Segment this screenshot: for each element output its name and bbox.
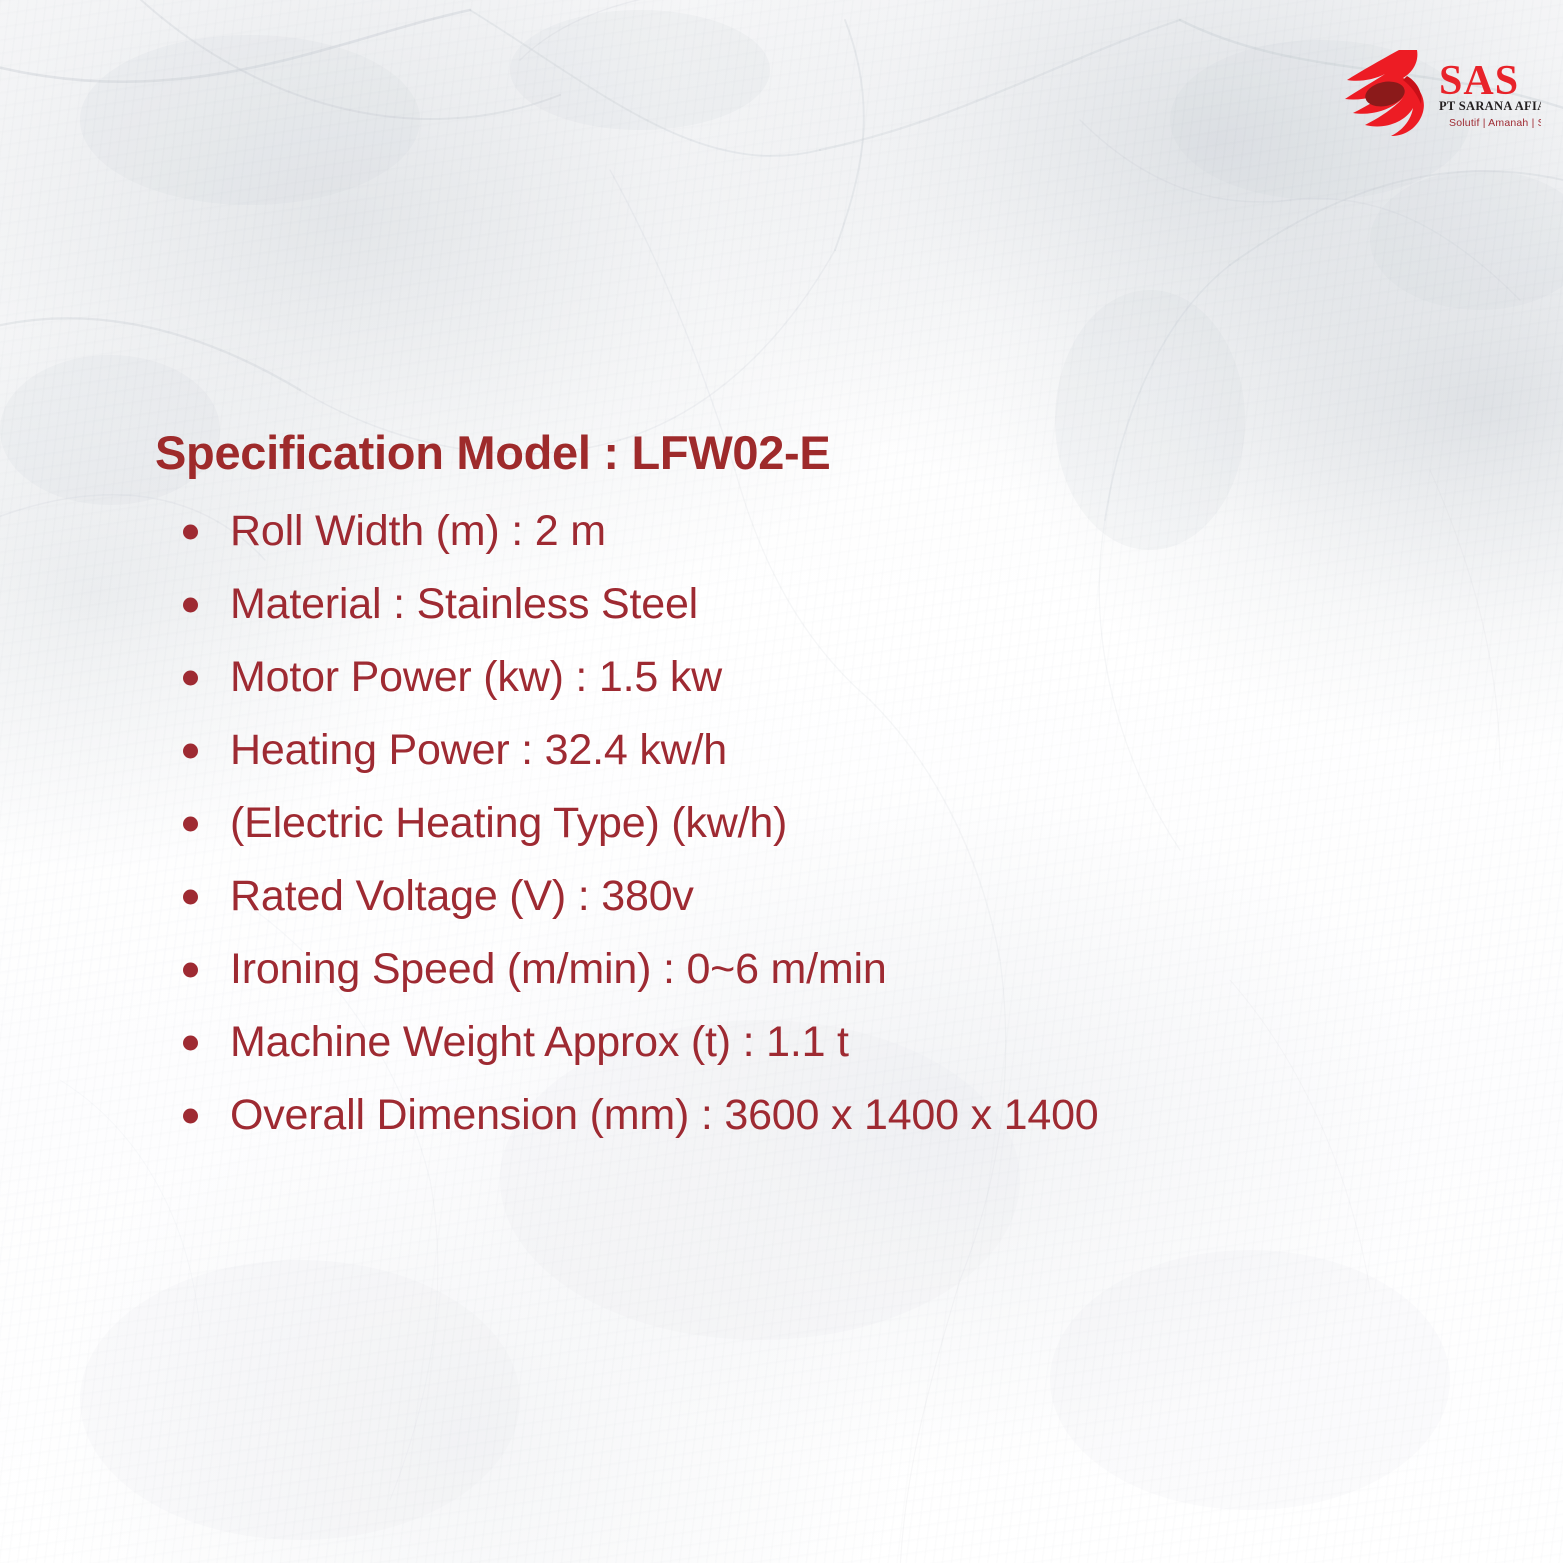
- bullet-dot-icon: [183, 816, 198, 831]
- list-item: Heating Power : 32.4 kw/h: [155, 714, 1475, 787]
- list-item: Machine Weight Approx (t) : 1.1 t: [155, 1006, 1475, 1079]
- bullet-dot-icon: [183, 670, 198, 685]
- bullet-dot-icon: [183, 1108, 198, 1123]
- list-item-label: Heating Power : 32.4 kw/h: [230, 726, 727, 774]
- list-item: (Electric Heating Type) (kw/h): [155, 787, 1475, 860]
- bullet-dot-icon: [183, 1035, 198, 1050]
- sas-zigzag-s-mark: [1345, 50, 1424, 136]
- list-item-label: Material : Stainless Steel: [230, 580, 698, 628]
- list-item: Roll Width (m) : 2 m: [155, 495, 1475, 568]
- list-item-label: (Electric Heating Type) (kw/h): [230, 799, 787, 847]
- list-item-label: Motor Power (kw) : 1.5 kw: [230, 653, 722, 701]
- bullet-dot-icon: [183, 743, 198, 758]
- list-item-label: Rated Voltage (V) : 380v: [230, 872, 694, 920]
- bullet-dot-icon: [183, 597, 198, 612]
- list-item: Motor Power (kw) : 1.5 kw: [155, 641, 1475, 714]
- bullet-dot-icon: [183, 962, 198, 977]
- bullet-dot-icon: [183, 524, 198, 539]
- list-item: Overall Dimension (mm) : 3600 x 1400 x 1…: [155, 1079, 1475, 1152]
- list-item: Rated Voltage (V) : 380v: [155, 860, 1475, 933]
- list-item: Ironing Speed (m/min) : 0~6 m/min: [155, 933, 1475, 1006]
- list-item-label: Machine Weight Approx (t) : 1.1 t: [230, 1018, 849, 1066]
- logo-tagline: Solutif | Amanah | Sinergis: [1449, 117, 1541, 129]
- bullet-dot-icon: [183, 889, 198, 904]
- specification-block: Specification Model : LFW02-E Roll Width…: [155, 425, 1475, 1152]
- logo-wordmark: SAS: [1439, 58, 1519, 104]
- specification-list: Roll Width (m) : 2 m Material : Stainles…: [155, 495, 1475, 1152]
- sas-company-logo: SAS PT SARANA AFIA SINERGI Solutif | Ama…: [1341, 46, 1541, 142]
- logo-company-name: PT SARANA AFIA SINERGI: [1439, 99, 1541, 113]
- list-item: Material : Stainless Steel: [155, 568, 1475, 641]
- poster-canvas: SAS PT SARANA AFIA SINERGI Solutif | Ama…: [0, 0, 1563, 1563]
- list-item-label: Ironing Speed (m/min) : 0~6 m/min: [230, 945, 887, 993]
- list-item-label: Overall Dimension (mm) : 3600 x 1400 x 1…: [230, 1091, 1099, 1139]
- list-item-label: Roll Width (m) : 2 m: [230, 507, 606, 555]
- page-title: Specification Model : LFW02-E: [155, 425, 1475, 481]
